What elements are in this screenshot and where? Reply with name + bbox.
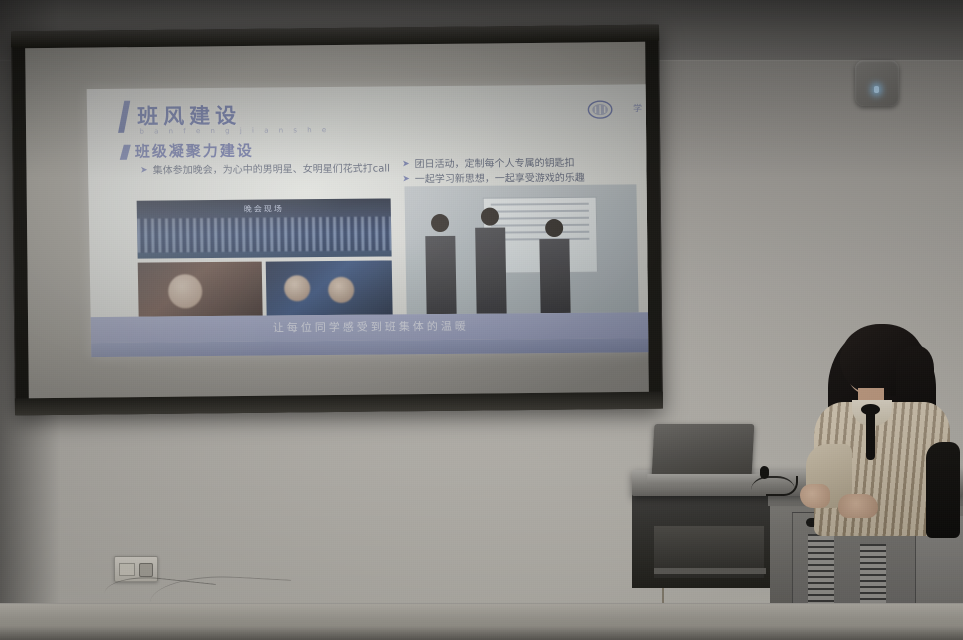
vent-grille <box>860 544 886 610</box>
right-arm <box>926 442 960 538</box>
person-head <box>481 208 499 226</box>
vent-grille <box>808 534 834 610</box>
microphone-neck <box>766 476 798 496</box>
speaker <box>800 316 963 536</box>
lectern-left-shelf <box>632 492 772 588</box>
wall-sensor-icon <box>855 60 899 106</box>
person-silhouette <box>425 236 456 314</box>
photo-caption: 晚会现场 <box>244 203 284 214</box>
person-silhouette <box>475 227 507 313</box>
laptop-base <box>647 474 760 484</box>
bullet-text: 团日活动，定制每个人专属的钥匙扣 <box>414 157 574 173</box>
person-silhouette <box>168 274 203 308</box>
person-head <box>431 214 449 232</box>
bow-tie <box>866 408 875 460</box>
presentation-slide: 班风建设 b a n f e n g j i a n s h e 学 班级凝聚力… <box>87 84 649 357</box>
section-accent-mark <box>120 145 131 160</box>
slide-section-heading: 班级凝聚力建设 <box>135 140 254 162</box>
right-hand <box>838 494 878 518</box>
concert-crowd-photo: 晚会现场 <box>137 198 392 258</box>
bullet-text: 集体参加晚会，为心中的男明星、女明星们花式打call <box>153 162 390 179</box>
crowd-texture <box>137 216 392 252</box>
list-item: ➤ 集体参加晚会，为心中的男明星、女明星们花式打call <box>140 162 390 179</box>
student-portrait-photo <box>138 262 263 317</box>
logo-text: 学 <box>633 101 643 114</box>
bullet-arrow-icon: ➤ <box>402 173 410 188</box>
bullet-list-right: ➤ 团日活动，定制每个人专属的钥匙扣 ➤ 一起学习新思想，一起享受游戏的乐趣 <box>402 156 643 187</box>
title-accent-bar <box>118 101 130 133</box>
person-silhouette <box>284 275 310 301</box>
university-seal-icon <box>587 97 613 123</box>
person-head <box>545 219 563 237</box>
status-led <box>874 86 879 93</box>
classroom-activity-photo <box>404 184 638 314</box>
slide-title-pinyin: b a n f e n g j i a n s h e <box>139 126 330 136</box>
outlet-socket-flat <box>119 563 135 576</box>
outlet-socket-round <box>139 563 153 577</box>
projector-screen[interactable]: 班风建设 b a n f e n g j i a n s h e 学 班级凝聚力… <box>11 25 663 416</box>
presenter-laptop[interactable] <box>647 424 753 486</box>
screen-surface: 班风建设 b a n f e n g j i a n s h e 学 班级凝聚力… <box>25 42 649 398</box>
lecture-hall-scene: 班风建设 b a n f e n g j i a n s h e 学 班级凝聚力… <box>0 0 963 640</box>
left-hand <box>800 484 830 508</box>
students-seated-photo <box>266 260 393 315</box>
gooseneck-microphone[interactable] <box>760 466 794 496</box>
bullet-arrow-icon: ➤ <box>140 165 148 180</box>
person-silhouette <box>328 277 354 303</box>
person-silhouette <box>539 239 570 313</box>
lectern-shelf-board <box>654 568 766 574</box>
bullet-arrow-icon: ➤ <box>402 158 410 173</box>
bullet-list-left: ➤ 集体参加晚会，为心中的男明星、女明星们花式打call <box>140 162 390 179</box>
floor-shadow <box>0 626 963 640</box>
laptop-screen <box>652 424 755 476</box>
